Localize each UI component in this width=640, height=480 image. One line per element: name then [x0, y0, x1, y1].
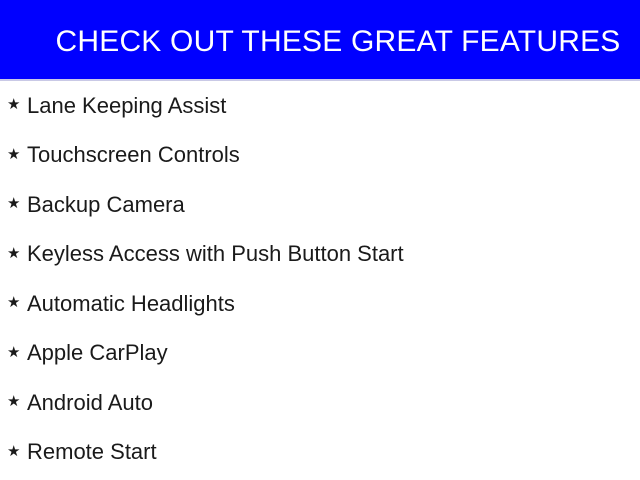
feature-label: Keyless Access with Push Button Start [27, 241, 404, 267]
list-item: ★ Android Auto [0, 378, 640, 428]
feature-label: Backup Camera [27, 192, 185, 218]
feature-label: Remote Start [27, 439, 157, 465]
list-item: ★ Touchscreen Controls [0, 131, 640, 181]
star-icon: ★ [7, 394, 27, 409]
list-item: ★ Keyless Access with Push Button Start [0, 230, 640, 280]
feature-label: Lane Keeping Assist [27, 93, 226, 119]
page-title: CHECK OUT THESE GREAT FEATURES [0, 27, 640, 57]
star-icon: ★ [7, 295, 27, 310]
feature-list-page: CHECK OUT THESE GREAT FEATURES ★ Lane Ke… [0, 0, 640, 480]
star-icon: ★ [7, 246, 27, 261]
star-icon: ★ [7, 345, 27, 360]
list-item: ★ Automatic Headlights [0, 279, 640, 329]
feature-list: ★ Lane Keeping Assist ★ Touchscreen Cont… [0, 81, 640, 477]
feature-label: Apple CarPlay [27, 340, 168, 366]
list-item: ★ Apple CarPlay [0, 329, 640, 379]
feature-label: Automatic Headlights [27, 291, 235, 317]
list-item: ★ Backup Camera [0, 180, 640, 230]
star-icon: ★ [7, 147, 27, 162]
list-item: ★ Lane Keeping Assist [0, 81, 640, 131]
star-icon: ★ [7, 196, 27, 211]
list-item: ★ Remote Start [0, 428, 640, 478]
header-banner: CHECK OUT THESE GREAT FEATURES [0, 0, 640, 79]
star-icon: ★ [7, 444, 27, 459]
star-icon: ★ [7, 97, 27, 112]
feature-label: Touchscreen Controls [27, 142, 240, 168]
feature-label: Android Auto [27, 390, 153, 416]
